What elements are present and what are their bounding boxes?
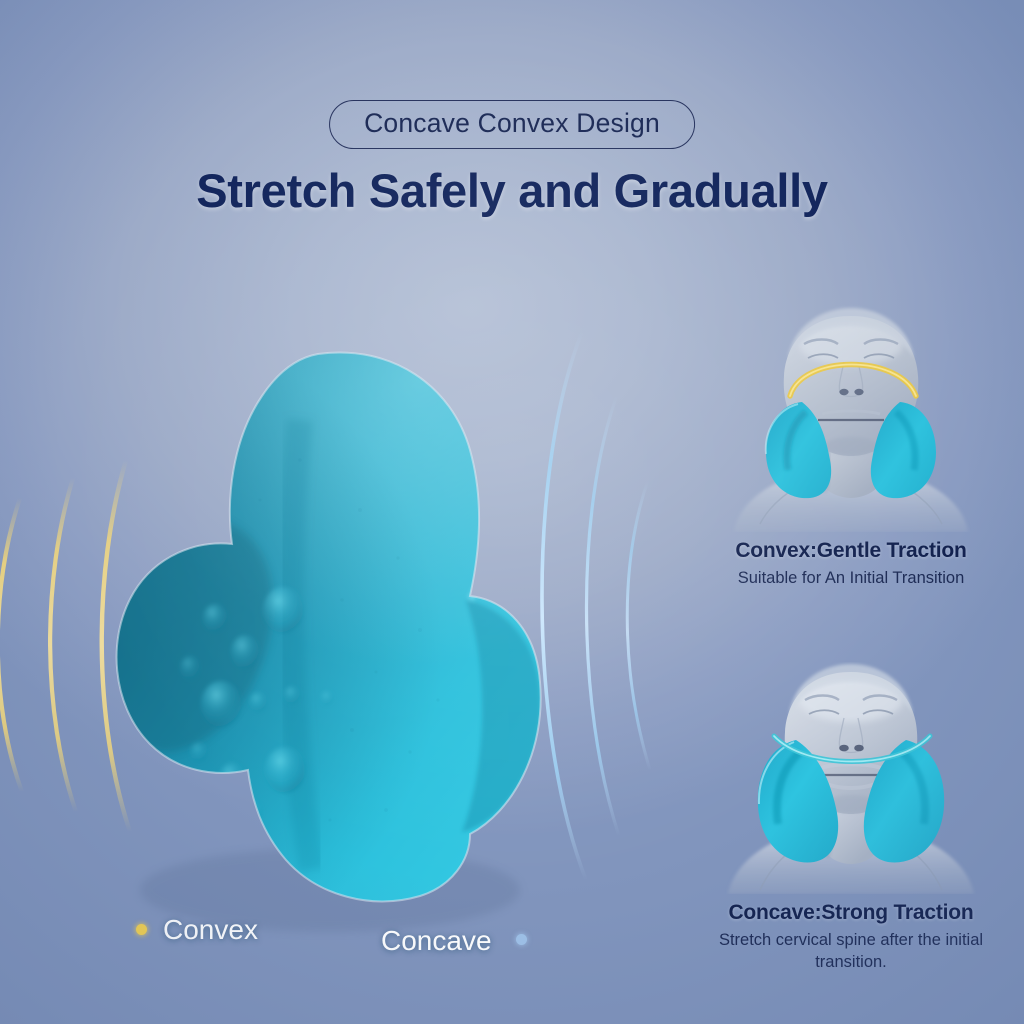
panel-concave-subtitle: Stretch cervical spine after the initial… xyxy=(678,930,1024,974)
product-illustration: Convex Concave xyxy=(0,300,680,940)
concave-marker-dot-icon xyxy=(516,934,527,945)
figure-concave xyxy=(678,662,1024,894)
head-neck-concave-illustration xyxy=(678,662,1024,894)
neck-pillow-shape xyxy=(0,300,680,940)
head-neck-convex-illustration xyxy=(678,300,1024,532)
panel-convex-title: Convex:Gentle Traction xyxy=(678,539,1024,563)
design-badge: Concave Convex Design xyxy=(329,100,695,149)
panel-convex-subtitle: Suitable for An Initial Transition xyxy=(678,568,1024,590)
figure-convex xyxy=(678,300,1024,532)
convex-label: Convex xyxy=(163,914,258,946)
convex-marker-dot-icon xyxy=(136,924,147,935)
concave-label: Concave xyxy=(381,925,492,957)
panel-concave-title: Concave:Strong Traction xyxy=(678,901,1024,925)
infographic-root: Concave Convex Design Stretch Safely and… xyxy=(0,0,1024,1024)
panel-concave: Concave:Strong Traction Stretch cervical… xyxy=(678,662,1024,974)
page-headline: Stretch Safely and Gradually xyxy=(196,163,828,218)
usage-panels: Convex:Gentle Traction Suitable for An I… xyxy=(678,300,1024,973)
panel-convex: Convex:Gentle Traction Suitable for An I… xyxy=(678,300,1024,590)
